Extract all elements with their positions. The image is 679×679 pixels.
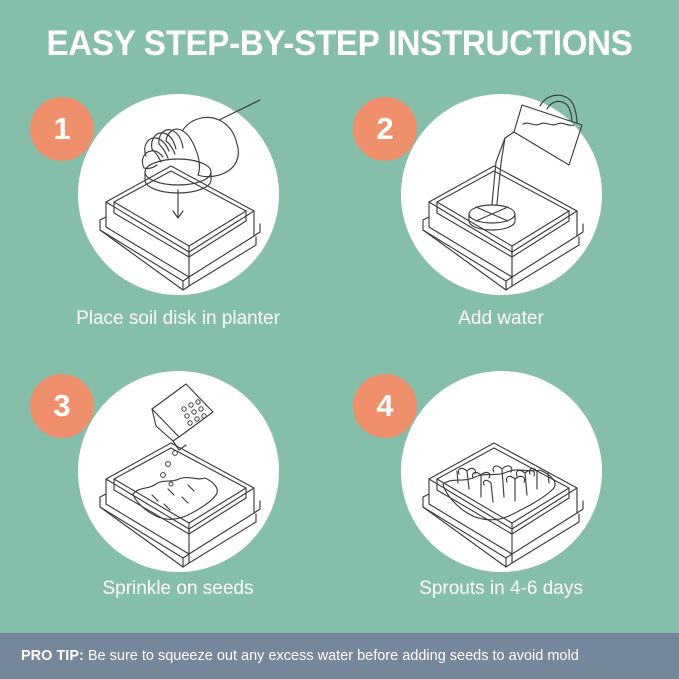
step-caption-1: Place soil disk in planter bbox=[17, 306, 339, 331]
step-number-badge-4: 4 bbox=[353, 374, 417, 438]
pro-tip-label: PRO TIP: bbox=[21, 648, 84, 664]
step-card-2: 2 Add water bbox=[340, 88, 662, 353]
step-number-badge-3: 3 bbox=[30, 374, 94, 438]
soil-disk-illustration bbox=[78, 94, 279, 295]
seed-packet-illustration bbox=[78, 371, 279, 572]
step-number-badge-2: 2 bbox=[353, 97, 417, 161]
watering-illustration bbox=[401, 94, 602, 295]
step-card-4: 4 Sprouts in 4-6 days bbox=[340, 365, 662, 630]
step-illustration-wrap-3: 3 bbox=[17, 365, 339, 577]
step-card-3: 3 Sprinkle on seeds bbox=[17, 365, 339, 630]
pro-tip-bar: PRO TIP: Be sure to squeeze out any exce… bbox=[0, 633, 679, 679]
pro-tip-text: PRO TIP: Be sure to squeeze out any exce… bbox=[0, 647, 593, 665]
step-caption-4: Sprouts in 4-6 days bbox=[340, 576, 662, 601]
step-illustration-wrap-1: 1 bbox=[17, 88, 339, 300]
pro-tip-body: Be sure to squeeze out any excess water … bbox=[84, 648, 579, 664]
steps-grid: 1 Place soil disk in planter bbox=[0, 88, 679, 623]
step-number-badge-1: 1 bbox=[30, 97, 94, 161]
instructions-infographic: EASY STEP-BY-STEP INSTRUCTIONS bbox=[0, 0, 679, 679]
step-card-1: 1 Place soil disk in planter bbox=[17, 88, 339, 353]
sprouts-illustration bbox=[401, 371, 602, 572]
step-illustration-wrap-2: 2 bbox=[340, 88, 662, 300]
step-illustration-wrap-4: 4 bbox=[340, 365, 662, 577]
step-caption-3: Sprinkle on seeds bbox=[17, 576, 339, 601]
step-caption-2: Add water bbox=[340, 306, 662, 331]
page-title: EASY STEP-BY-STEP INSTRUCTIONS bbox=[17, 22, 662, 66]
